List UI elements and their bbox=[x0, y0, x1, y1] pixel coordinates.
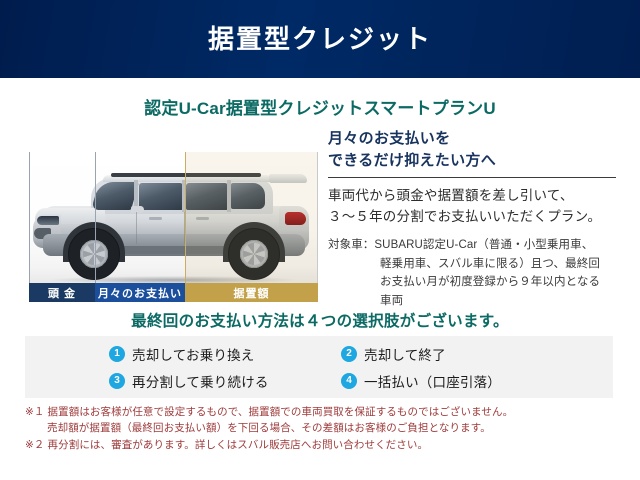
footnote-line-1: ※１ 据置額はお客様が任意で設定するもので、据置額での車両買取を保証するものでは… bbox=[25, 404, 625, 420]
final-payment-options-heading: 最終回のお支払い方法は４つの選択肢がございます。 bbox=[0, 309, 640, 331]
subaru-forester-illustration bbox=[33, 172, 315, 276]
option-label-3: 再分割して乗り続ける bbox=[132, 371, 269, 391]
options-grid: 1 売却してお乗り換え 2 売却して終了 3 再分割して乗り続ける 4 一括払い… bbox=[109, 344, 579, 391]
segment-down-payment: 頭 金 bbox=[29, 283, 95, 302]
page-title: 据置型クレジット bbox=[208, 26, 432, 52]
segment-monthly-payment: 月々のお支払い bbox=[95, 283, 185, 302]
pitch-headline-line1: 月々のお支払いを bbox=[328, 128, 628, 150]
option-label-1: 売却してお乗り換え bbox=[132, 344, 255, 364]
plan-description-line1: 車両代から頭金や据置額を差し引いて、 bbox=[328, 185, 628, 207]
eligible-vehicles-line1: 対象車：SUBARU認定U-Car（普通・小型乗用車、 bbox=[328, 236, 628, 255]
car-photo bbox=[29, 152, 318, 283]
segment-balloon-amount-label: 据置額 bbox=[234, 285, 270, 301]
plan-description-column: 月々のお支払いを できるだけ抑えたい方へ 車両代から頭金や据置額を差し引いて、 … bbox=[328, 128, 628, 311]
front-door-handle bbox=[149, 217, 162, 220]
side-mirror-shape bbox=[131, 206, 144, 213]
eligible-vehicles-line4: 車両 bbox=[328, 292, 628, 311]
final-payment-options-panel: 1 売却してお乗り換え 2 売却して終了 3 再分割して乗り続ける 4 一括払い… bbox=[25, 336, 613, 398]
rear-wheel bbox=[228, 228, 280, 280]
eligible-vehicles-line3: お支払い月が初度登録から９年以内となる bbox=[328, 273, 628, 292]
eligible-vehicles-line2: 軽乗用車、スバル車に限る）且つ、最終回 bbox=[328, 255, 628, 274]
plan-description: 車両代から頭金や据置額を差し引いて、 ３～５年の分割でお支払いいただくプラン。 bbox=[328, 185, 628, 229]
option-label-4: 一括払い（口座引落） bbox=[364, 371, 501, 391]
segment-balloon-amount: 据置額 bbox=[185, 283, 318, 302]
front-door-glass bbox=[139, 183, 183, 210]
option-item-2[interactable]: 2 売却して終了 bbox=[341, 344, 579, 364]
taillight-shape bbox=[285, 212, 306, 225]
number-badge-3-icon: 3 bbox=[109, 373, 125, 389]
quarter-glass bbox=[231, 183, 265, 209]
d-pillar-shape bbox=[227, 180, 231, 212]
eligible-vehicles-note: 対象車：SUBARU認定U-Car（普通・小型乗用車、 軽乗用車、スバル車に限る… bbox=[328, 236, 628, 311]
segment-divider-left bbox=[29, 152, 30, 283]
ground-shadow bbox=[51, 276, 297, 283]
option-label-2: 売却して終了 bbox=[364, 344, 446, 364]
plan-description-line2: ３～５年の分割でお支払いいただくプラン。 bbox=[328, 206, 628, 228]
number-badge-1-icon: 1 bbox=[109, 346, 125, 362]
option-item-4[interactable]: 4 一括払い（口座引落） bbox=[341, 371, 579, 391]
pitch-headline-line2: できるだけ抑えたい方へ bbox=[328, 150, 628, 172]
footnotes: ※１ 据置額はお客様が任意で設定するもので、据置額での車両買取を保証するものでは… bbox=[25, 404, 625, 453]
roof-rail-shape bbox=[111, 173, 261, 177]
segment-divider-right bbox=[317, 152, 318, 283]
option-item-1[interactable]: 1 売却してお乗り換え bbox=[109, 344, 341, 364]
pitch-divider-rule bbox=[328, 177, 616, 178]
segment-down-payment-label: 頭 金 bbox=[48, 285, 76, 301]
page-header: 据置型クレジット bbox=[0, 0, 640, 78]
footnote-line-3: ※２ 再分割には、審査があります。詳しくはスバル販売店へお問い合わせください。 bbox=[25, 437, 625, 453]
front-door-seam bbox=[136, 212, 137, 244]
option-item-3[interactable]: 3 再分割して乗り続ける bbox=[109, 371, 341, 391]
segment-divider-down-monthly bbox=[95, 152, 96, 283]
payment-breakdown-figure: 頭 金 月々のお支払い 据置額 bbox=[29, 152, 318, 302]
footnote-line-2: 売却額が据置額（最終回お支払い額）を下回る場合、その差額はお客様のご負担となりま… bbox=[25, 420, 625, 436]
number-badge-2-icon: 2 bbox=[341, 346, 357, 362]
rear-door-glass bbox=[186, 183, 228, 210]
rear-spoiler-shape bbox=[269, 174, 307, 183]
plan-subtitle: 認定U-Car据置型クレジットスマートプランU bbox=[0, 94, 640, 119]
segment-divider-monthly-balloon bbox=[185, 152, 186, 283]
front-wheel bbox=[68, 228, 120, 280]
headlight-shape bbox=[37, 216, 59, 225]
segment-monthly-payment-label: 月々のお支払い bbox=[98, 285, 182, 301]
number-badge-4-icon: 4 bbox=[341, 373, 357, 389]
payment-segment-bar: 頭 金 月々のお支払い 据置額 bbox=[29, 283, 318, 302]
rear-door-handle bbox=[196, 217, 209, 220]
